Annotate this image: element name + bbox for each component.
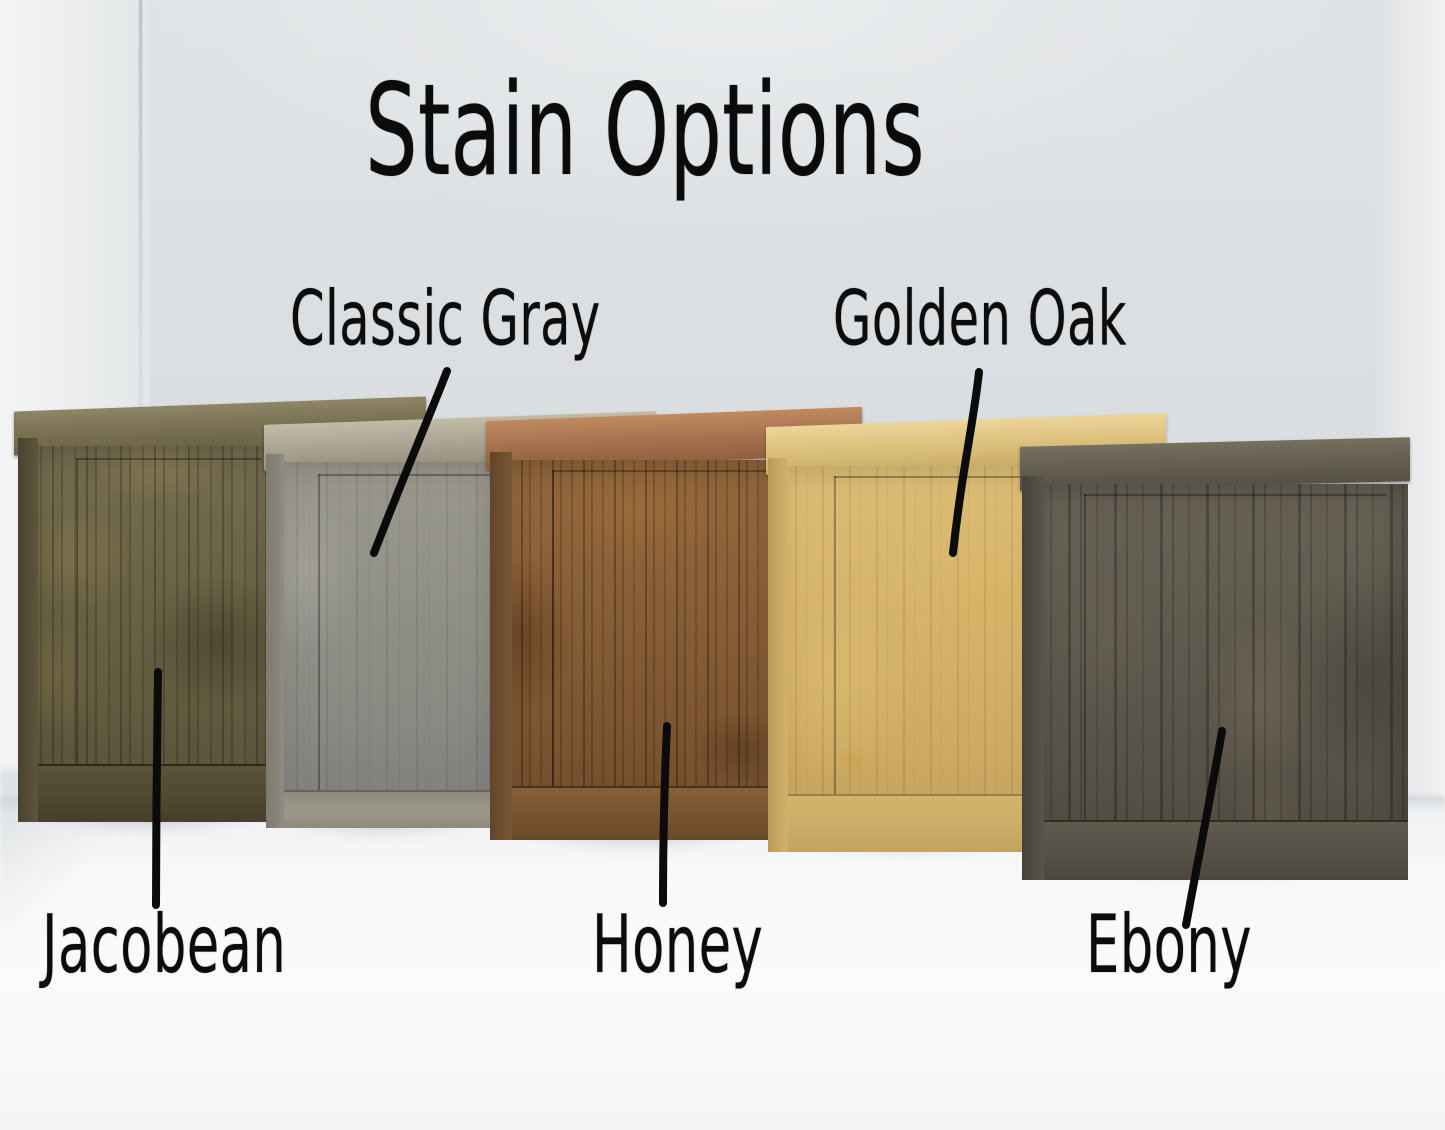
label-jacobean: Jacobean xyxy=(42,905,286,986)
label-honey: Honey xyxy=(592,905,763,986)
label-ebony: Ebony xyxy=(1086,905,1252,986)
stain-options-photo: Stain Options xyxy=(0,0,1445,1130)
label-classic-gray: Classic Gray xyxy=(290,281,601,357)
label-golden-oak: Golden Oak xyxy=(833,281,1127,357)
